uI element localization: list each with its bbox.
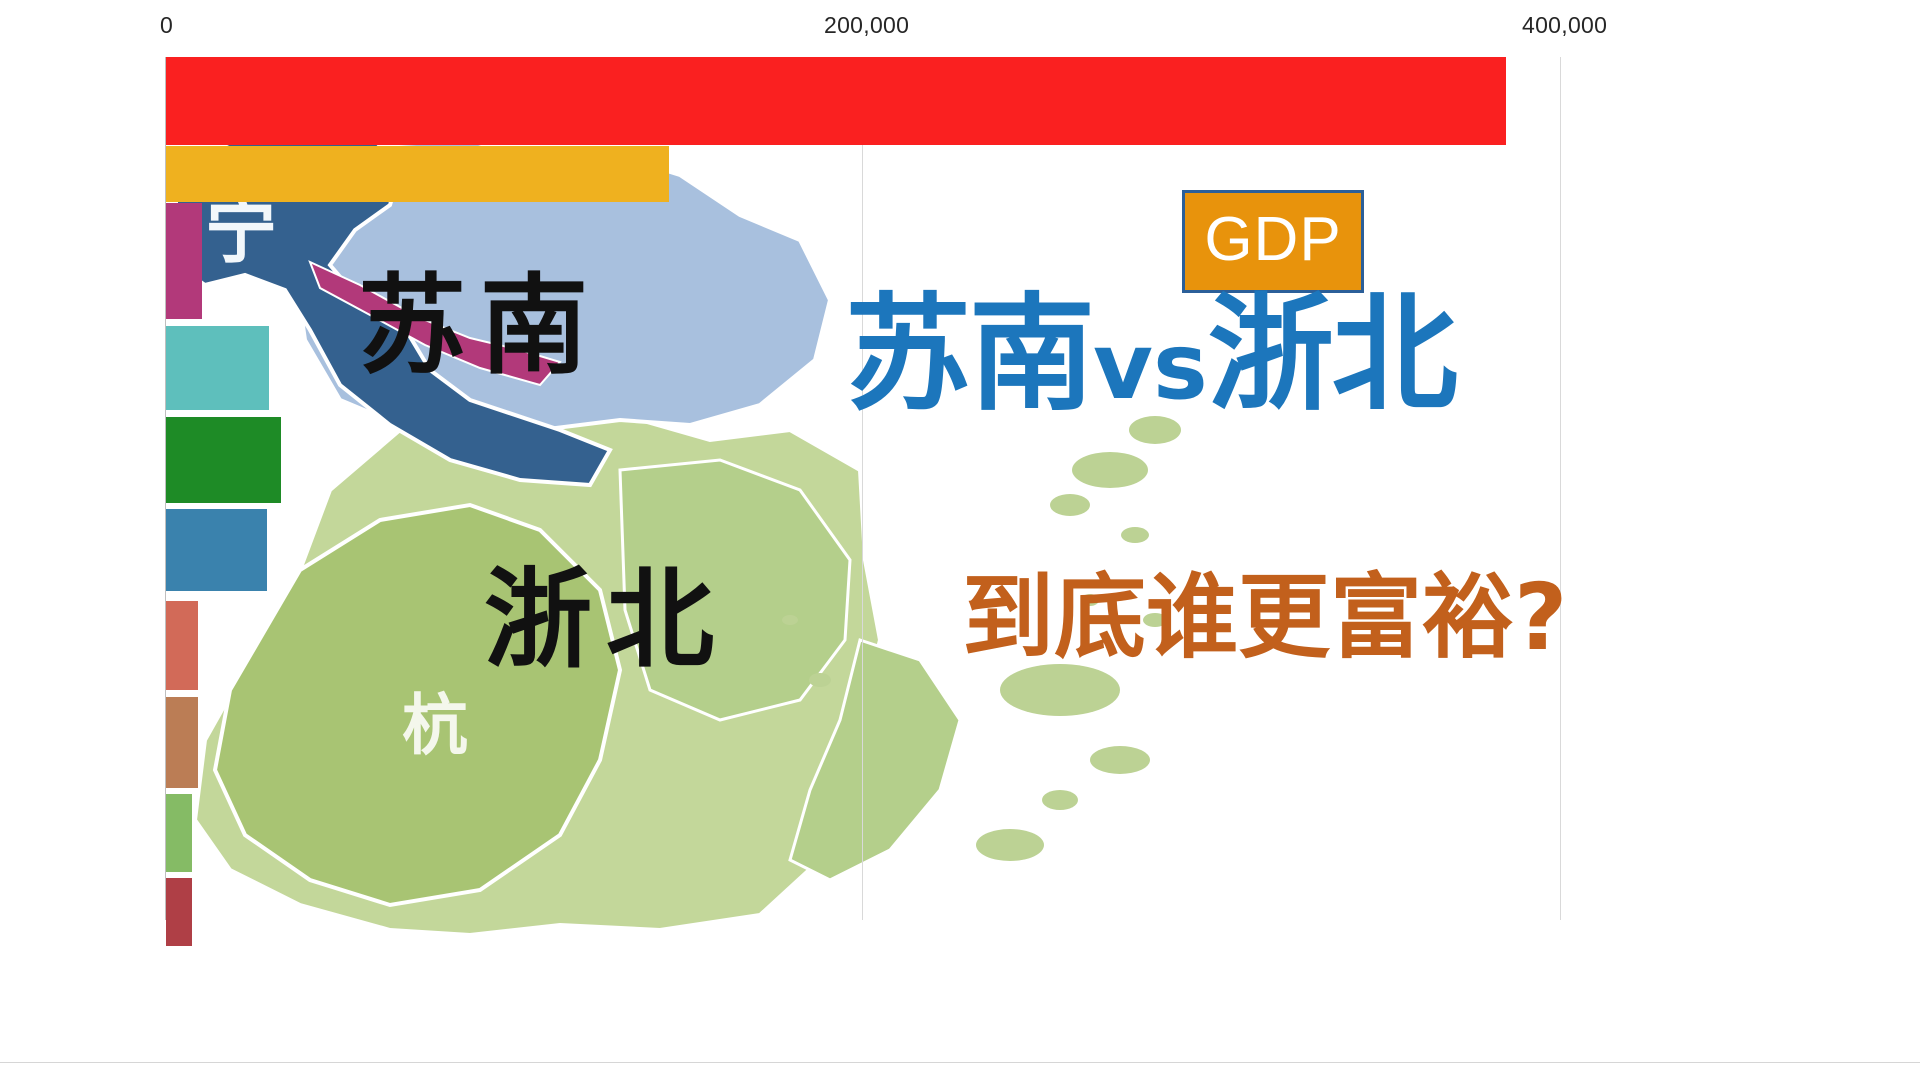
- bar-row-3: [166, 203, 202, 319]
- gridline-200k: [862, 57, 863, 920]
- footer-divider: [0, 1062, 1920, 1063]
- bar-row-4: [166, 326, 269, 410]
- bar-row-1: [166, 57, 1506, 145]
- bar-row-6: [166, 509, 267, 591]
- bar-row-9: [166, 794, 192, 872]
- page-subtitle: 到底谁更富裕?: [962, 572, 1567, 664]
- page-title-right: 浙北: [1208, 281, 1456, 428]
- bar-row-7: [166, 601, 198, 690]
- x-tick-label-400k: 400,000: [1522, 12, 1607, 39]
- screenshot-canvas: 宁 苏南 浙北 杭 0 200,000 400,000 GDP 苏南vs浙北 到…: [0, 0, 1920, 1080]
- bar-chart-race: 0 200,000 400,000: [0, 0, 1920, 1080]
- page-title-left: 苏南: [845, 281, 1093, 428]
- x-tick-label-0: 0: [160, 12, 173, 39]
- x-tick-label-200k: 200,000: [824, 12, 909, 39]
- page-title-vs: vs: [1093, 313, 1208, 420]
- gdp-badge: GDP: [1182, 190, 1364, 293]
- bar-row-5: [166, 417, 281, 503]
- gdp-badge-label: GDP: [1204, 209, 1341, 271]
- gridline-400k: [1560, 57, 1561, 920]
- bar-row-8: [166, 697, 198, 788]
- bar-row-10: [166, 878, 192, 946]
- page-title: 苏南vs浙北: [845, 292, 1456, 418]
- bar-row-2: [166, 146, 669, 202]
